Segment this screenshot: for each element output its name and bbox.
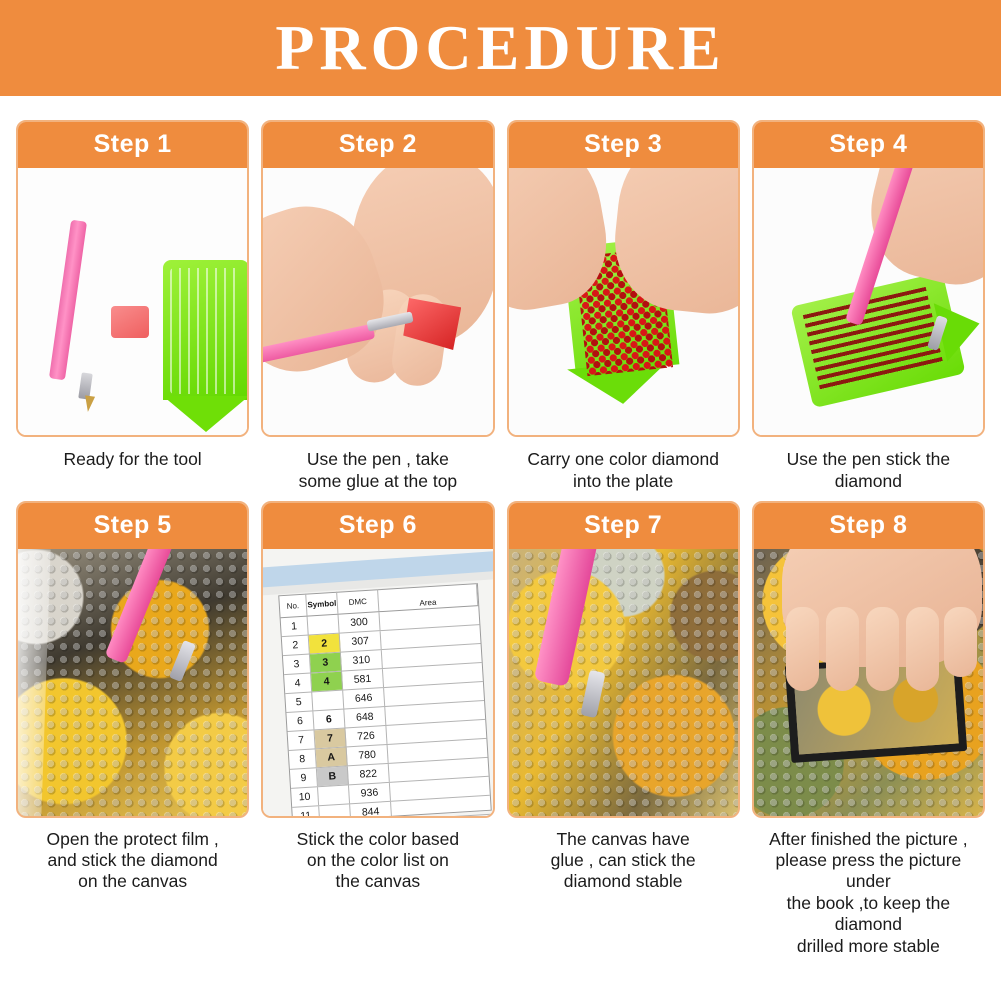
step-1-image bbox=[18, 168, 247, 435]
cell-dmc: 307 bbox=[340, 631, 382, 651]
step-cell-5: Step 5 Open the protect film , and stick… bbox=[16, 501, 249, 957]
step-cell-4: Step 4 Use the pen stick the diamond bbox=[752, 120, 985, 493]
cell-symbol: B bbox=[317, 766, 349, 786]
cell-no: 9 bbox=[290, 768, 318, 788]
cell-dmc: 300 bbox=[339, 612, 381, 632]
step-6-label: Step 6 bbox=[263, 503, 492, 549]
step-card-7: Step 7 bbox=[507, 501, 740, 818]
step-8-label: Step 8 bbox=[754, 503, 983, 549]
step-2-scene bbox=[263, 168, 492, 435]
cell-dmc: 581 bbox=[342, 669, 384, 689]
cell-symbol: 6 bbox=[314, 709, 346, 729]
cell-symbol: 7 bbox=[315, 728, 347, 748]
cell-dmc: 648 bbox=[345, 707, 387, 727]
sunflower-canvas-mosaic bbox=[509, 549, 738, 816]
pen-point-icon bbox=[83, 395, 95, 412]
cell-no: 11 bbox=[292, 806, 320, 816]
step-card-3: Step 3 bbox=[507, 120, 740, 437]
step-3-label: Step 3 bbox=[509, 122, 738, 168]
step-2-caption: Use the pen , take some glue at the top bbox=[261, 448, 494, 493]
color-chart-sheet: No. Symbol DMC Area 13002230733310445815… bbox=[263, 549, 492, 816]
cell-no: 2 bbox=[282, 635, 310, 655]
step-4-scene bbox=[754, 168, 983, 435]
step-7-label: Step 7 bbox=[509, 503, 738, 549]
finger-icon bbox=[906, 607, 939, 691]
cell-symbol bbox=[312, 690, 344, 710]
cell-dmc: 780 bbox=[347, 745, 389, 765]
step-5-caption: Open the protect film , and stick the di… bbox=[16, 829, 249, 893]
cell-dmc: 936 bbox=[349, 783, 391, 803]
cell-symbol: A bbox=[316, 747, 348, 767]
cell-no: 10 bbox=[291, 787, 319, 807]
cell-symbol: 2 bbox=[309, 633, 341, 653]
cell-no: 6 bbox=[287, 711, 315, 731]
step-7-image bbox=[509, 549, 738, 816]
cell-no: 8 bbox=[289, 749, 317, 769]
cell-dmc: 726 bbox=[346, 726, 388, 746]
step-2-label: Step 2 bbox=[263, 122, 492, 168]
step-6-image: No. Symbol DMC Area 13002230733310445815… bbox=[263, 549, 492, 816]
cell-symbol: 3 bbox=[310, 652, 342, 672]
finger-icon bbox=[866, 607, 899, 691]
step-cell-1: Step 1 Ready for the tool bbox=[16, 120, 249, 493]
cell-no: 4 bbox=[284, 673, 312, 693]
header-no: No. bbox=[279, 593, 307, 617]
finger-icon bbox=[944, 607, 977, 677]
finger-icon bbox=[786, 607, 819, 691]
cell-symbol: 4 bbox=[311, 671, 343, 691]
step-1-label: Step 1 bbox=[18, 122, 247, 168]
step-1-caption: Ready for the tool bbox=[16, 448, 249, 470]
cell-symbol bbox=[308, 614, 340, 634]
step-card-8: Step 8 bbox=[752, 501, 985, 818]
page-header-banner: PROCEDURE bbox=[0, 0, 1001, 96]
step-card-2: Step 2 bbox=[261, 120, 494, 437]
step-2-image bbox=[263, 168, 492, 435]
step-card-5: Step 5 bbox=[16, 501, 249, 818]
step-5-image bbox=[18, 549, 247, 816]
step-card-6: Step 6 No. Symbol DMC Area 1300223073331… bbox=[261, 501, 494, 818]
step-1-scene bbox=[18, 168, 247, 435]
step-cell-6: Step 6 No. Symbol DMC Area 1300223073331… bbox=[261, 501, 494, 957]
cell-symbol bbox=[318, 785, 350, 805]
step-card-1: Step 1 bbox=[16, 120, 249, 437]
step-cell-2: Step 2 Use the pen , take some glue at t… bbox=[261, 120, 494, 493]
step-4-caption: Use the pen stick the diamond bbox=[752, 448, 985, 493]
header-dmc: DMC bbox=[337, 589, 379, 613]
step-cell-8: Step 8 After finished the picture , plea… bbox=[752, 501, 985, 957]
step-cell-3: Step 3 Carry one color diamond into the … bbox=[507, 120, 740, 493]
cell-no: 1 bbox=[281, 616, 309, 636]
cell-no: 3 bbox=[283, 654, 311, 674]
cell-no: 5 bbox=[286, 692, 314, 712]
step-8-caption: After finished the picture , please pres… bbox=[752, 829, 985, 957]
header-symbol: Symbol bbox=[306, 591, 338, 615]
step-5-label: Step 5 bbox=[18, 503, 247, 549]
step-6-caption: Stick the color based on the color list … bbox=[261, 829, 494, 893]
cell-symbol bbox=[319, 804, 351, 816]
step-7-caption: The canvas have glue , can stick the dia… bbox=[507, 829, 740, 893]
cell-dmc: 844 bbox=[350, 802, 392, 816]
step-4-label: Step 4 bbox=[754, 122, 983, 168]
fingers-group bbox=[784, 607, 980, 691]
color-legend-table: No. Symbol DMC Area 13002230733310445815… bbox=[278, 583, 492, 816]
cell-dmc: 310 bbox=[341, 650, 383, 670]
page-title: PROCEDURE bbox=[275, 16, 725, 80]
step-8-image bbox=[754, 549, 983, 816]
steps-grid: Step 1 Ready for the tool Step 2 bbox=[0, 96, 1001, 957]
cell-dmc: 822 bbox=[348, 764, 390, 784]
tray-grooves-icon bbox=[170, 268, 242, 394]
cell-no: 7 bbox=[288, 730, 316, 750]
tray-spout-icon bbox=[163, 396, 247, 432]
step-3-scene bbox=[509, 168, 738, 435]
step-4-image bbox=[754, 168, 983, 435]
pen-icon bbox=[49, 220, 87, 381]
step-3-caption: Carry one color diamond into the plate bbox=[507, 448, 740, 493]
table-body: 1300223073331044581564666648777268A7809B… bbox=[281, 606, 493, 816]
step-3-image bbox=[509, 168, 738, 435]
step-cell-7: Step 7 The canvas have glue , can stick … bbox=[507, 501, 740, 957]
wax-glue-icon bbox=[111, 306, 149, 338]
finger-icon bbox=[826, 607, 859, 691]
step-card-4: Step 4 bbox=[752, 120, 985, 437]
cell-dmc: 646 bbox=[343, 688, 385, 708]
